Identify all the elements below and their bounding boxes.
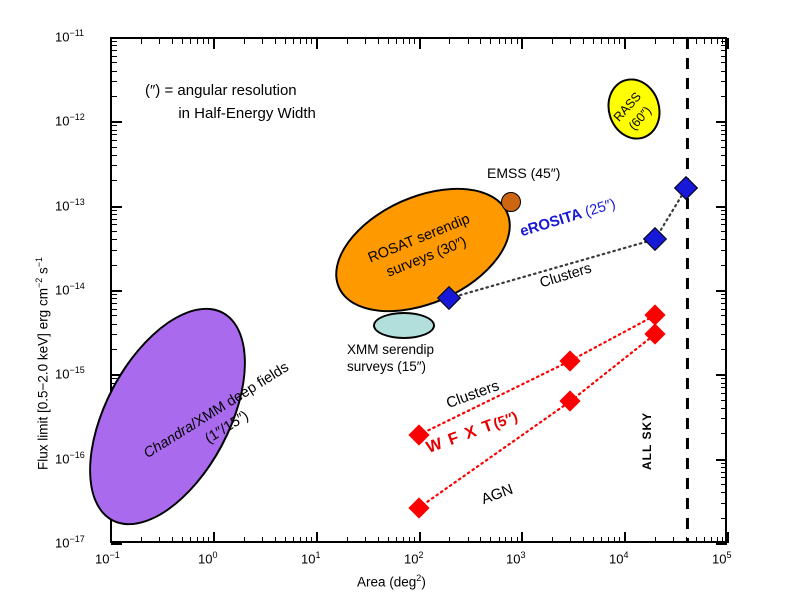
x-tick-label: 104 bbox=[609, 550, 628, 566]
y-minor-tick-right bbox=[721, 467, 727, 468]
x-minor-tick-top bbox=[293, 38, 294, 44]
y-major-tick-right bbox=[716, 37, 727, 39]
y-minor-tick bbox=[111, 50, 117, 51]
x-minor-tick bbox=[396, 537, 397, 543]
y-minor-tick bbox=[111, 224, 117, 225]
y-minor-tick-right bbox=[721, 125, 727, 126]
y-minor-tick bbox=[111, 130, 117, 131]
y-minor-tick bbox=[111, 96, 117, 97]
x-major-tick bbox=[727, 532, 729, 543]
x-major-tick bbox=[521, 532, 523, 543]
x-minor-tick bbox=[490, 537, 491, 543]
x-minor-tick bbox=[293, 537, 294, 543]
x-minor-tick-top bbox=[583, 38, 584, 44]
x-minor-tick-top bbox=[172, 38, 173, 44]
y-minor-tick-right bbox=[721, 324, 727, 325]
y-minor-tick bbox=[111, 315, 117, 316]
x-minor-tick bbox=[159, 537, 160, 543]
x-minor-tick bbox=[306, 537, 307, 543]
y-minor-tick-right bbox=[721, 147, 727, 148]
x-minor-tick-top bbox=[396, 38, 397, 44]
x-minor-tick bbox=[203, 537, 204, 543]
y-minor-tick bbox=[111, 45, 117, 46]
chart-root: 10−110010110210310410510−1710−1610−1510−… bbox=[0, 0, 800, 600]
x-minor-tick-top bbox=[388, 38, 389, 44]
y-tick-label: 10−12 bbox=[55, 112, 85, 128]
y-minor-tick-right bbox=[721, 393, 727, 394]
x-minor-tick bbox=[505, 537, 506, 543]
x-minor-tick-top bbox=[159, 38, 160, 44]
y-minor-tick-right bbox=[721, 134, 727, 135]
y-major-tick bbox=[111, 543, 122, 545]
y-minor-tick-right bbox=[721, 433, 727, 434]
x-minor-tick-top bbox=[490, 38, 491, 44]
y-minor-tick-right bbox=[721, 492, 727, 493]
y-minor-tick-right bbox=[721, 518, 727, 519]
resolution-note: (″) = angular resolution in Half-Energy … bbox=[145, 79, 316, 126]
x-minor-tick bbox=[449, 537, 450, 543]
x-tick-label: 101 bbox=[301, 550, 320, 566]
y-minor-tick bbox=[111, 210, 117, 211]
x-minor-tick-top bbox=[262, 38, 263, 44]
y-major-tick-right bbox=[716, 206, 727, 208]
x-tick-label: 103 bbox=[506, 550, 525, 566]
y-major-tick bbox=[111, 290, 122, 292]
all-sky-line-label: ALL SKY bbox=[640, 412, 655, 470]
y-minor-tick-right bbox=[721, 155, 727, 156]
x-minor-tick bbox=[480, 537, 481, 543]
y-minor-tick bbox=[111, 219, 117, 220]
y-minor-tick bbox=[111, 214, 117, 215]
x-minor-tick-top bbox=[614, 38, 615, 44]
y-minor-tick-right bbox=[721, 180, 727, 181]
x-major-tick-top bbox=[624, 38, 626, 49]
x-minor-tick-top bbox=[275, 38, 276, 44]
x-minor-tick-top bbox=[306, 38, 307, 44]
x-minor-tick bbox=[570, 537, 571, 543]
y-minor-tick-right bbox=[721, 165, 727, 166]
x-minor-tick bbox=[172, 537, 173, 543]
x-minor-tick-top bbox=[311, 38, 312, 44]
x-minor-tick bbox=[208, 537, 209, 543]
x-axis-title: Area (deg2) bbox=[357, 573, 426, 590]
x-minor-tick bbox=[347, 537, 348, 543]
x-minor-tick bbox=[468, 537, 469, 543]
x-minor-tick-top bbox=[449, 38, 450, 44]
y-minor-tick-right bbox=[721, 418, 727, 419]
x-tick-label: 100 bbox=[198, 550, 217, 566]
x-minor-tick bbox=[511, 537, 512, 543]
x-major-tick-top bbox=[316, 38, 318, 49]
y-minor-tick-right bbox=[721, 214, 727, 215]
region-label-xmm: XMM serendip surveys (15″) bbox=[347, 342, 434, 376]
x-major-tick-top bbox=[419, 38, 421, 49]
x-minor-tick-top bbox=[409, 38, 410, 44]
x-minor-tick-top bbox=[511, 38, 512, 44]
x-minor-tick-top bbox=[347, 38, 348, 44]
x-minor-tick-top bbox=[300, 38, 301, 44]
x-minor-tick bbox=[141, 537, 142, 543]
x-minor-tick bbox=[619, 537, 620, 543]
y-tick-label: 10−13 bbox=[55, 197, 85, 213]
x-major-tick bbox=[316, 532, 318, 543]
x-minor-tick bbox=[285, 537, 286, 543]
x-minor-tick bbox=[673, 537, 674, 543]
x-minor-tick bbox=[552, 537, 553, 543]
x-minor-tick-top bbox=[704, 38, 705, 44]
y-minor-tick-right bbox=[721, 219, 727, 220]
y-tick-label: 10−15 bbox=[55, 365, 85, 381]
x-minor-tick-top bbox=[517, 38, 518, 44]
x-minor-tick bbox=[182, 537, 183, 543]
x-minor-tick-top bbox=[203, 38, 204, 44]
x-minor-tick bbox=[365, 537, 366, 543]
x-minor-tick bbox=[275, 537, 276, 543]
x-minor-tick bbox=[403, 537, 404, 543]
marker-label-emss: EMSS (45″) bbox=[487, 165, 560, 183]
x-minor-tick-top bbox=[182, 38, 183, 44]
x-minor-tick-top bbox=[365, 38, 366, 44]
y-minor-tick-right bbox=[721, 477, 727, 478]
x-minor-tick-top bbox=[414, 38, 415, 44]
x-minor-tick-top bbox=[499, 38, 500, 44]
y-minor-tick-right bbox=[721, 383, 727, 384]
x-minor-tick bbox=[601, 537, 602, 543]
y-minor-tick-right bbox=[721, 50, 727, 51]
x-minor-tick bbox=[614, 537, 615, 543]
y-minor-tick-right bbox=[721, 400, 727, 401]
y-minor-tick-right bbox=[721, 71, 727, 72]
x-major-tick-top bbox=[213, 38, 215, 49]
y-minor-tick-right bbox=[721, 130, 727, 131]
y-minor-tick-right bbox=[721, 45, 727, 46]
y-minor-tick-right bbox=[721, 334, 727, 335]
y-minor-tick bbox=[111, 134, 117, 135]
region-xmm-serendip-surveys bbox=[373, 312, 435, 339]
y-minor-tick-right bbox=[721, 315, 727, 316]
y-minor-tick-right bbox=[721, 231, 727, 232]
x-minor-tick-top bbox=[403, 38, 404, 44]
x-minor-tick bbox=[244, 537, 245, 543]
y-minor-tick-right bbox=[721, 140, 727, 141]
y-minor-tick-right bbox=[721, 210, 727, 211]
y-minor-tick-right bbox=[721, 387, 727, 388]
x-major-tick-top bbox=[110, 38, 112, 49]
y-minor-tick-right bbox=[721, 378, 727, 379]
y-minor-tick-right bbox=[721, 250, 727, 251]
x-minor-tick bbox=[517, 537, 518, 543]
x-minor-tick-top bbox=[505, 38, 506, 44]
y-minor-tick bbox=[111, 250, 117, 251]
y-minor-tick-right bbox=[721, 484, 727, 485]
y-minor-tick-right bbox=[721, 408, 727, 409]
y-minor-tick-right bbox=[721, 294, 727, 295]
x-minor-tick bbox=[655, 537, 656, 543]
y-axis-title: Flux limit [0.5−2.0 keV] erg cm−2 s−1 bbox=[34, 257, 51, 470]
y-minor-tick bbox=[111, 298, 117, 299]
y-minor-tick bbox=[111, 56, 117, 57]
y-tick-label: 10−17 bbox=[55, 534, 85, 550]
x-minor-tick-top bbox=[378, 38, 379, 44]
x-minor-tick-top bbox=[190, 38, 191, 44]
x-minor-tick bbox=[583, 537, 584, 543]
x-minor-tick bbox=[711, 537, 712, 543]
y-minor-tick-right bbox=[721, 298, 727, 299]
y-minor-tick-right bbox=[721, 239, 727, 240]
y-minor-tick bbox=[111, 155, 117, 156]
x-minor-tick-top bbox=[608, 38, 609, 44]
y-minor-tick bbox=[111, 294, 117, 295]
y-minor-tick bbox=[111, 265, 117, 266]
y-major-tick-right bbox=[716, 121, 727, 123]
x-minor-tick-top bbox=[552, 38, 553, 44]
x-minor-tick-top bbox=[244, 38, 245, 44]
x-major-tick-top bbox=[521, 38, 523, 49]
x-minor-tick-top bbox=[197, 38, 198, 44]
y-major-tick-right bbox=[716, 290, 727, 292]
y-major-tick-right bbox=[716, 459, 727, 461]
y-tick-label: 10−11 bbox=[55, 28, 84, 44]
x-tick-label: 105 bbox=[712, 550, 731, 566]
y-minor-tick-right bbox=[721, 349, 727, 350]
y-minor-tick bbox=[111, 239, 117, 240]
y-minor-tick-right bbox=[721, 41, 727, 42]
y-minor-tick bbox=[111, 165, 117, 166]
x-minor-tick-top bbox=[593, 38, 594, 44]
y-minor-tick bbox=[111, 71, 117, 72]
y-minor-tick bbox=[111, 334, 117, 335]
x-major-tick bbox=[624, 532, 626, 543]
x-major-tick bbox=[419, 532, 421, 543]
x-minor-tick bbox=[686, 537, 687, 543]
y-major-tick bbox=[111, 37, 122, 39]
x-minor-tick-top bbox=[655, 38, 656, 44]
x-minor-tick bbox=[262, 537, 263, 543]
x-minor-tick-top bbox=[619, 38, 620, 44]
y-major-tick bbox=[111, 206, 122, 208]
y-minor-tick-right bbox=[721, 96, 727, 97]
y-minor-tick bbox=[111, 140, 117, 141]
x-minor-tick bbox=[388, 537, 389, 543]
x-minor-tick bbox=[499, 537, 500, 543]
x-tick-label: 10−1 bbox=[95, 550, 120, 566]
y-major-tick-right bbox=[716, 374, 727, 376]
y-minor-tick-right bbox=[721, 472, 727, 473]
x-minor-tick-top bbox=[673, 38, 674, 44]
y-minor-tick-right bbox=[721, 265, 727, 266]
y-minor-tick bbox=[111, 303, 117, 304]
x-minor-tick bbox=[608, 537, 609, 543]
x-minor-tick bbox=[197, 537, 198, 543]
x-major-tick-top bbox=[727, 38, 729, 49]
x-minor-tick bbox=[300, 537, 301, 543]
x-minor-tick-top bbox=[285, 38, 286, 44]
x-minor-tick-top bbox=[468, 38, 469, 44]
y-minor-tick-right bbox=[721, 81, 727, 82]
y-minor-tick-right bbox=[721, 463, 727, 464]
x-minor-tick bbox=[704, 537, 705, 543]
x-tick-label: 102 bbox=[404, 550, 423, 566]
y-major-tick bbox=[111, 121, 122, 123]
y-minor-tick bbox=[111, 231, 117, 232]
x-minor-tick-top bbox=[208, 38, 209, 44]
x-minor-tick-top bbox=[696, 38, 697, 44]
y-minor-tick bbox=[111, 349, 117, 350]
y-tick-label: 10−16 bbox=[55, 450, 85, 466]
y-minor-tick bbox=[111, 62, 117, 63]
y-minor-tick-right bbox=[721, 303, 727, 304]
y-minor-tick bbox=[111, 147, 117, 148]
y-minor-tick-right bbox=[721, 224, 727, 225]
x-major-tick bbox=[213, 532, 215, 543]
y-minor-tick-right bbox=[721, 503, 727, 504]
x-minor-tick-top bbox=[711, 38, 712, 44]
y-minor-tick-right bbox=[721, 56, 727, 57]
y-minor-tick-right bbox=[721, 309, 727, 310]
x-minor-tick bbox=[311, 537, 312, 543]
x-minor-tick bbox=[696, 537, 697, 543]
y-minor-tick bbox=[111, 324, 117, 325]
x-minor-tick bbox=[409, 537, 410, 543]
x-minor-tick-top bbox=[141, 38, 142, 44]
x-major-tick bbox=[110, 532, 112, 543]
x-minor-tick bbox=[190, 537, 191, 543]
x-minor-tick-top bbox=[480, 38, 481, 44]
x-minor-tick bbox=[378, 537, 379, 543]
y-major-tick-right bbox=[716, 543, 727, 545]
x-minor-tick-top bbox=[686, 38, 687, 44]
x-minor-tick bbox=[414, 537, 415, 543]
x-minor-tick bbox=[593, 537, 594, 543]
y-tick-label: 10−14 bbox=[55, 281, 85, 297]
y-minor-tick bbox=[111, 81, 117, 82]
y-minor-tick bbox=[111, 41, 117, 42]
x-minor-tick-top bbox=[601, 38, 602, 44]
y-minor-tick bbox=[111, 309, 117, 310]
y-minor-tick bbox=[111, 180, 117, 181]
y-minor-tick-right bbox=[721, 62, 727, 63]
x-minor-tick-top bbox=[570, 38, 571, 44]
y-minor-tick bbox=[111, 125, 117, 126]
